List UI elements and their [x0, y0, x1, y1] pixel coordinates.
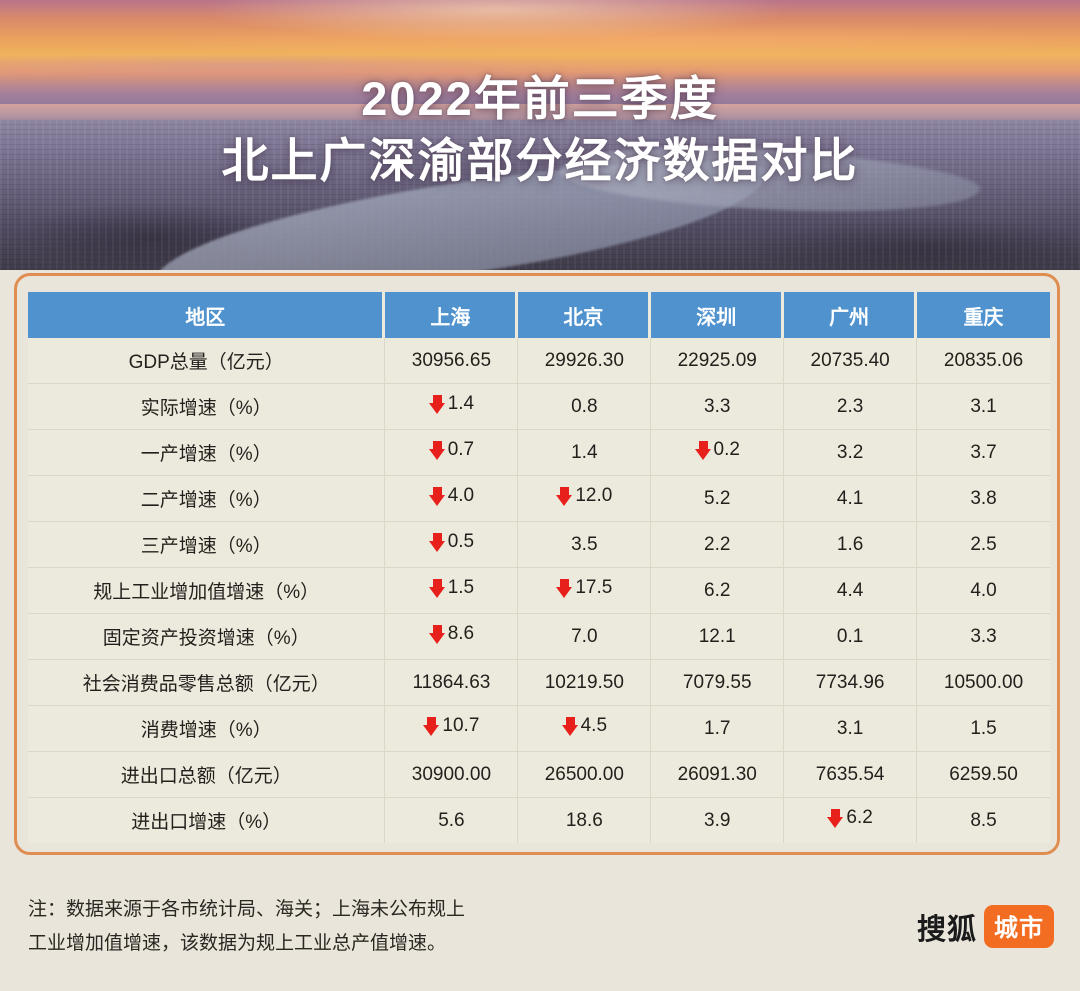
cell-value: 7635.54: [816, 764, 885, 786]
data-cell: 8.6: [385, 614, 518, 660]
economic-data-table: 地区 上海 北京 深圳 广州 重庆 GDP总量（亿元）30956.6529926…: [28, 292, 1050, 843]
cell-value: 0.2: [714, 439, 740, 461]
cell-value: 0.7: [448, 439, 474, 461]
data-cell: 20835.06: [917, 338, 1050, 384]
row-label: 消费增速（%）: [28, 706, 385, 752]
data-cell: 0.1: [784, 614, 917, 660]
cell-value: 5.6: [438, 810, 464, 832]
data-cell: 6259.50: [917, 752, 1050, 798]
data-cell: 5.2: [651, 476, 784, 522]
table-row: 消费增速（%）10.74.51.73.11.5: [28, 706, 1050, 752]
row-label: 进出口总额（亿元）: [28, 752, 385, 798]
cell-value: 1.7: [704, 718, 730, 740]
row-label: 社会消费品零售总额（亿元）: [28, 660, 385, 706]
arrow-down-icon: [429, 395, 446, 414]
row-label: 一产增速（%）: [28, 430, 385, 476]
data-cell: 4.0: [917, 568, 1050, 614]
cell-value: 30956.65: [412, 350, 491, 372]
data-cell: 1.6: [784, 522, 917, 568]
cell-value: 3.8: [970, 488, 996, 510]
data-cell: 11864.63: [385, 660, 518, 706]
cell-value: 4.5: [581, 715, 607, 737]
cell-value: 0.1: [837, 626, 863, 648]
footnote: 注：数据来源于各市统计局、海关；上海未公布规上 工业增加值增速，该数据为规上工业…: [28, 893, 668, 961]
data-cell: 2.5: [917, 522, 1050, 568]
cell-value: 22925.09: [678, 350, 757, 372]
arrow-down-icon: [423, 717, 440, 736]
column-header-chongqing: 重庆: [917, 292, 1050, 338]
logo-sohu-text: 搜狐: [917, 906, 977, 948]
column-header-guangzhou: 广州: [784, 292, 917, 338]
cell-value: 1.6: [837, 534, 863, 556]
data-cell: 3.1: [784, 706, 917, 752]
cell-value: 12.1: [699, 626, 736, 648]
cell-value: 18.6: [566, 810, 603, 832]
cell-value: 4.0: [448, 485, 474, 507]
cell-value: 29926.30: [545, 350, 624, 372]
arrow-down-icon: [429, 487, 446, 506]
cell-value: 8.6: [448, 623, 474, 645]
title-line-2: 北上广深渝部分经济数据对比: [0, 130, 1080, 192]
data-cell: 1.5: [385, 568, 518, 614]
data-cell: 3.7: [917, 430, 1050, 476]
table-row: 社会消费品零售总额（亿元）11864.6310219.507079.557734…: [28, 660, 1050, 706]
row-label: 三产增速（%）: [28, 522, 385, 568]
data-cell: 20735.40: [784, 338, 917, 384]
cell-value: 4.0: [970, 580, 996, 602]
arrow-down-icon: [429, 441, 446, 460]
infographic-page: 2022年前三季度 北上广深渝部分经济数据对比 地区 上海 北京 深圳 广州 重…: [0, 0, 1080, 991]
cell-value: 6.2: [846, 807, 872, 829]
data-cell: 7079.55: [651, 660, 784, 706]
table-row: 进出口总额（亿元）30900.0026500.0026091.307635.54…: [28, 752, 1050, 798]
data-cell: 0.5: [385, 522, 518, 568]
cell-value: 3.7: [970, 442, 996, 464]
data-cell: 26500.00: [518, 752, 651, 798]
data-cell: 6.2: [651, 568, 784, 614]
cell-value: 1.5: [970, 718, 996, 740]
cell-value: 1.4: [448, 393, 474, 415]
table-row: 固定资产投资增速（%）8.67.012.10.13.3: [28, 614, 1050, 660]
data-cell: 3.5: [518, 522, 651, 568]
cell-value: 26500.00: [545, 764, 624, 786]
data-cell: 2.3: [784, 384, 917, 430]
data-cell: 29926.30: [518, 338, 651, 384]
cell-value: 2.3: [837, 396, 863, 418]
data-cell: 1.5: [917, 706, 1050, 752]
arrow-down-icon: [827, 809, 844, 828]
data-cell: 1.7: [651, 706, 784, 752]
cell-value: 2.5: [970, 534, 996, 556]
cell-value: 7079.55: [683, 672, 752, 694]
column-header-region: 地区: [28, 292, 385, 338]
data-cell: 3.3: [917, 614, 1050, 660]
cell-value: 1.5: [448, 577, 474, 599]
cell-value: 0.8: [571, 396, 597, 418]
cell-value: 4.4: [837, 580, 863, 602]
cell-value: 3.1: [970, 396, 996, 418]
data-cell: 12.0: [518, 476, 651, 522]
cell-value: 17.5: [575, 577, 612, 599]
logo-city-badge: 城市: [984, 905, 1054, 948]
data-cell: 4.1: [784, 476, 917, 522]
table-row: 一产增速（%）0.71.40.23.23.7: [28, 430, 1050, 476]
cell-value: 8.5: [970, 810, 996, 832]
cell-value: 5.2: [704, 488, 730, 510]
data-cell: 5.6: [385, 798, 518, 843]
table-header-row: 地区 上海 北京 深圳 广州 重庆: [28, 292, 1050, 338]
data-cell: 30956.65: [385, 338, 518, 384]
arrow-down-icon: [562, 717, 579, 736]
data-cell: 22925.09: [651, 338, 784, 384]
cell-value: 1.4: [571, 442, 597, 464]
cell-value: 6.2: [704, 580, 730, 602]
data-cell: 10.7: [385, 706, 518, 752]
table-row: 二产增速（%）4.012.05.24.13.8: [28, 476, 1050, 522]
cell-value: 4.1: [837, 488, 863, 510]
title-line-1: 2022年前三季度: [0, 68, 1080, 130]
arrow-down-icon: [429, 533, 446, 552]
cell-value: 10500.00: [944, 672, 1023, 694]
data-cell: 1.4: [385, 384, 518, 430]
cell-value: 20835.06: [944, 350, 1023, 372]
data-cell: 26091.30: [651, 752, 784, 798]
cell-value: 6259.50: [949, 764, 1018, 786]
arrow-down-icon: [556, 579, 573, 598]
column-header-shanghai: 上海: [385, 292, 518, 338]
data-cell: 30900.00: [385, 752, 518, 798]
data-cell: 4.4: [784, 568, 917, 614]
data-cell: 3.2: [784, 430, 917, 476]
data-cell: 7734.96: [784, 660, 917, 706]
data-cell: 3.8: [917, 476, 1050, 522]
data-cell: 10500.00: [917, 660, 1050, 706]
cell-value: 0.5: [448, 531, 474, 553]
data-cell: 7.0: [518, 614, 651, 660]
cell-value: 10219.50: [545, 672, 624, 694]
row-label: 规上工业增加值增速（%）: [28, 568, 385, 614]
cell-value: 3.9: [704, 810, 730, 832]
row-label: GDP总量（亿元）: [28, 338, 385, 384]
row-label: 实际增速（%）: [28, 384, 385, 430]
arrow-down-icon: [695, 441, 712, 460]
cell-value: 7.0: [571, 626, 597, 648]
data-cell: 3.1: [917, 384, 1050, 430]
cell-value: 3.3: [704, 396, 730, 418]
table-body: GDP总量（亿元）30956.6529926.3022925.0920735.4…: [28, 338, 1050, 843]
data-cell: 0.7: [385, 430, 518, 476]
data-cell: 1.4: [518, 430, 651, 476]
cell-value: 11864.63: [412, 672, 490, 694]
data-cell: 18.6: [518, 798, 651, 843]
data-cell: 6.2: [784, 798, 917, 843]
row-label: 二产增速（%）: [28, 476, 385, 522]
data-cell: 3.9: [651, 798, 784, 843]
data-cell: 0.2: [651, 430, 784, 476]
row-label: 进出口增速（%）: [28, 798, 385, 843]
sohu-city-logo[interactable]: 搜狐 城市: [917, 905, 1054, 948]
column-header-beijing: 北京: [518, 292, 651, 338]
column-header-shenzhen: 深圳: [651, 292, 784, 338]
footnote-line-1: 注：数据来源于各市统计局、海关；上海未公布规上: [28, 893, 668, 927]
cell-value: 3.3: [970, 626, 996, 648]
cell-value: 7734.96: [816, 672, 885, 694]
arrow-down-icon: [429, 625, 446, 644]
cell-value: 26091.30: [678, 764, 757, 786]
data-cell: 3.3: [651, 384, 784, 430]
cell-value: 3.5: [571, 534, 597, 556]
data-cell: 4.5: [518, 706, 651, 752]
cell-value: 30900.00: [412, 764, 491, 786]
table-row: GDP总量（亿元）30956.6529926.3022925.0920735.4…: [28, 338, 1050, 384]
table-row: 实际增速（%）1.40.83.32.33.1: [28, 384, 1050, 430]
table-row: 规上工业增加值增速（%）1.517.56.24.44.0: [28, 568, 1050, 614]
row-label: 固定资产投资增速（%）: [28, 614, 385, 660]
data-cell: 17.5: [518, 568, 651, 614]
cell-value: 12.0: [575, 485, 612, 507]
footnote-line-2: 工业增加值增速，该数据为规上工业总产值增速。: [28, 927, 668, 961]
data-cell: 8.5: [917, 798, 1050, 843]
data-cell: 0.8: [518, 384, 651, 430]
data-cell: 7635.54: [784, 752, 917, 798]
cell-value: 20735.40: [811, 350, 890, 372]
cell-value: 10.7: [442, 715, 479, 737]
data-cell: 4.0: [385, 476, 518, 522]
cell-value: 3.2: [837, 442, 863, 464]
table-row: 进出口增速（%）5.618.63.96.28.5: [28, 798, 1050, 843]
data-cell: 12.1: [651, 614, 784, 660]
page-title: 2022年前三季度 北上广深渝部分经济数据对比: [0, 68, 1080, 192]
data-cell: 10219.50: [518, 660, 651, 706]
arrow-down-icon: [429, 579, 446, 598]
data-cell: 2.2: [651, 522, 784, 568]
arrow-down-icon: [556, 487, 573, 506]
table-row: 三产增速（%）0.53.52.21.62.5: [28, 522, 1050, 568]
cell-value: 3.1: [837, 718, 863, 740]
cell-value: 2.2: [704, 534, 730, 556]
